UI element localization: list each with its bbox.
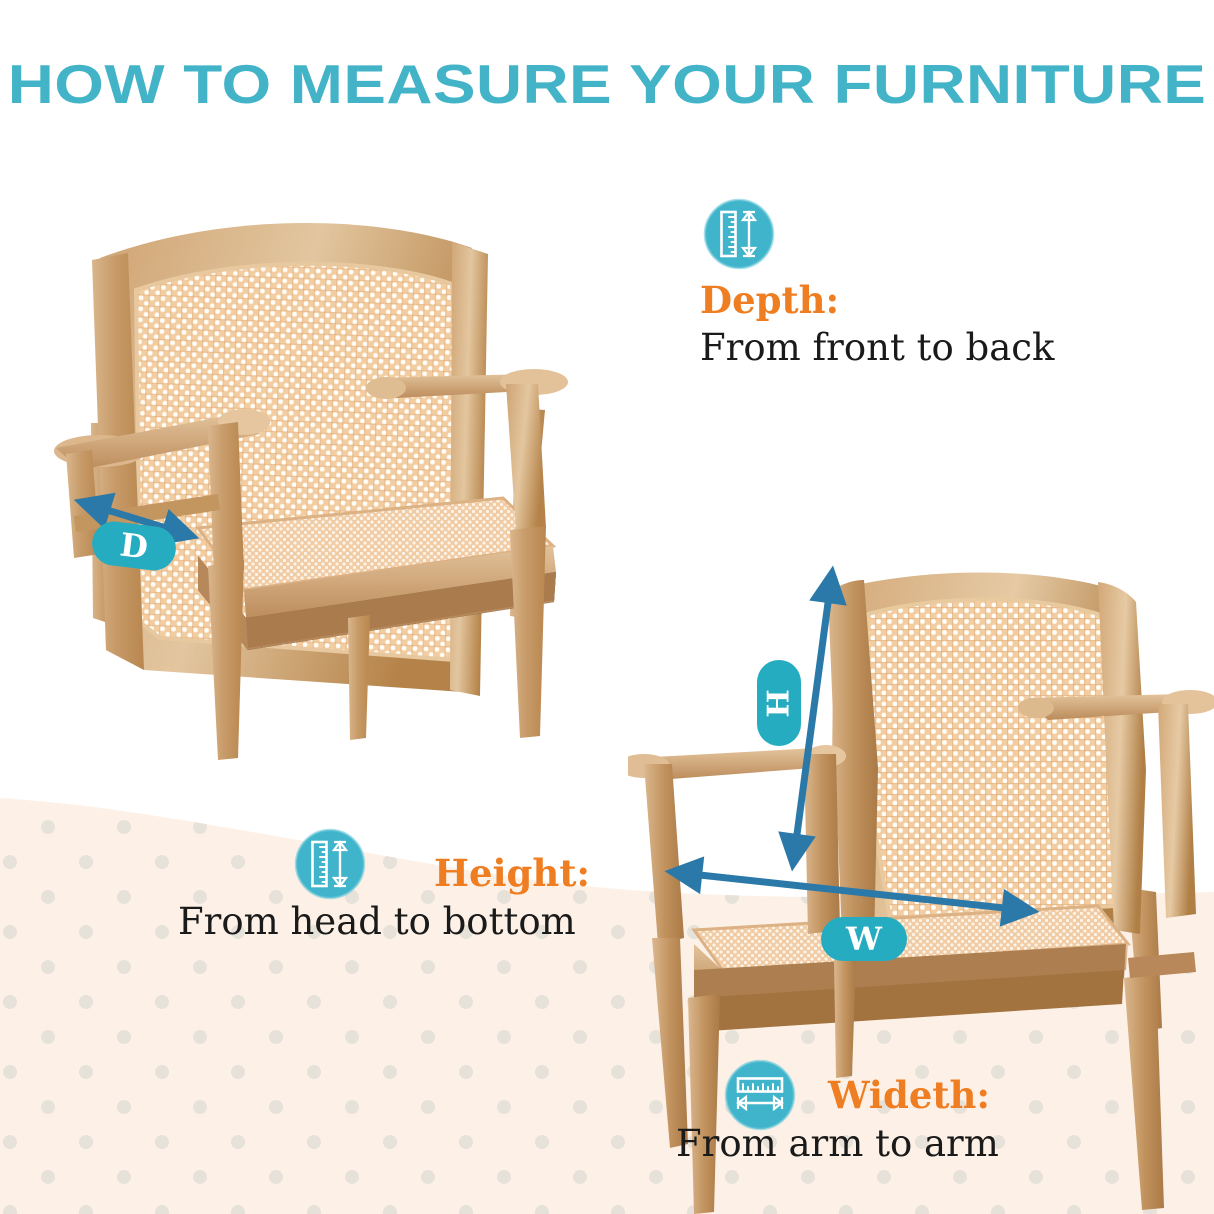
width-badge: W bbox=[821, 917, 907, 961]
height-badge-label: H bbox=[761, 689, 796, 717]
depth-badge-label: D bbox=[118, 525, 150, 566]
ruler-vertical-icon bbox=[701, 196, 777, 272]
width-badge-label: W bbox=[846, 920, 882, 958]
depth-icon-wrapper bbox=[701, 196, 777, 272]
width-text-block: Wideth: From arm to arm bbox=[676, 1077, 999, 1164]
height-heading: Height: bbox=[434, 855, 590, 892]
width-heading: Wideth: bbox=[828, 1077, 999, 1114]
page-title: HOW TO MEASURE YOUR FURNITURE bbox=[0, 52, 1214, 116]
depth-description: From front to back bbox=[700, 328, 1054, 368]
depth-heading: Depth: bbox=[700, 282, 1054, 319]
infographic-canvas: HOW TO MEASURE YOUR FURNITURE bbox=[0, 0, 1214, 1214]
height-badge: H bbox=[757, 660, 801, 746]
width-description: From arm to arm bbox=[676, 1124, 999, 1164]
chair-depth-illustration bbox=[48, 198, 568, 818]
height-description: From head to bottom bbox=[178, 902, 590, 942]
depth-text-block: Depth: From front to back bbox=[700, 282, 1054, 368]
height-text-block: Height: From head to bottom bbox=[178, 855, 590, 942]
